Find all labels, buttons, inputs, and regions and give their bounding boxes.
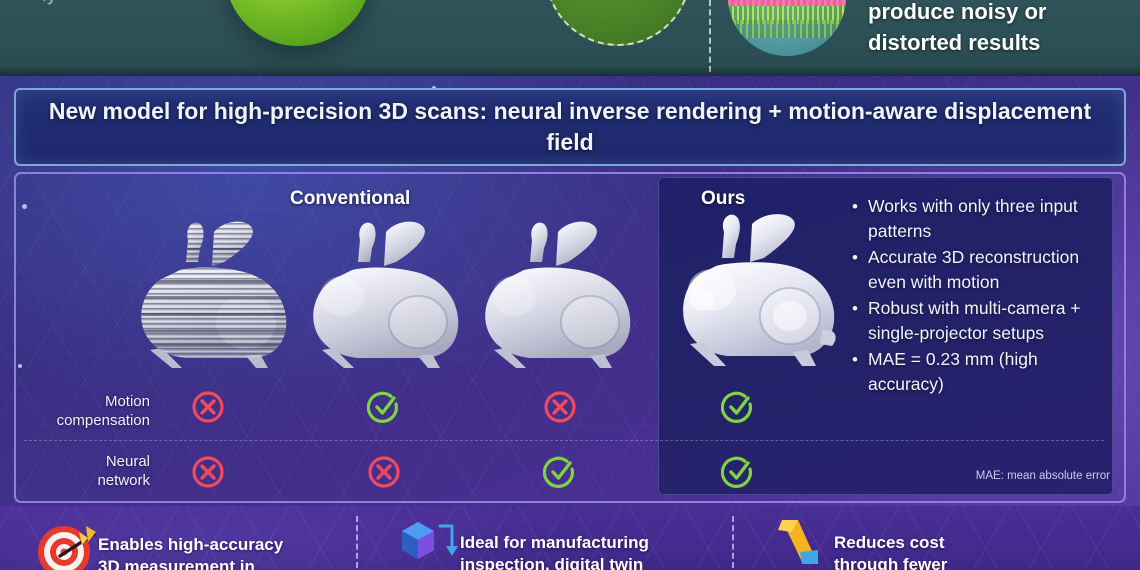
bullet-text: Accurate 3D reconstruction even with mot…: [868, 245, 1110, 295]
row-label-motion-compensation: Motion compensation: [20, 392, 150, 430]
benefit-item-cost: Reduces cost through fewer: [772, 510, 1024, 570]
top-cut-text: ly: [42, 0, 56, 6]
check-icon: [721, 455, 755, 489]
row-label-neural-network: Neural network: [20, 452, 150, 490]
dashed-green-sphere-icon: [545, 0, 691, 46]
headline-text: New model for high-precision 3D scans: n…: [16, 96, 1124, 158]
green-sphere-icon: [225, 0, 371, 46]
vertical-dashed-divider: [709, 0, 711, 72]
bunny-conventional-2: [300, 218, 468, 370]
list-item: • Robust with multi-camera + single-proj…: [852, 296, 1110, 346]
list-item: • Accurate 3D reconstruction even with m…: [852, 245, 1110, 295]
bunny-conventional-1: [128, 218, 296, 370]
row-divider: [24, 440, 1104, 441]
ours-bullet-list: • Works with only three input patterns •…: [852, 194, 1110, 398]
bunny-conventional-3: [472, 218, 640, 370]
bullet-text: Works with only three input patterns: [868, 194, 1110, 244]
cross-icon: [191, 390, 225, 424]
benefit-item-accuracy: Enables high-accuracy 3D measurement in: [36, 512, 308, 570]
benefit-item-manufacturing: Ideal for manufacturing inspection, digi…: [398, 510, 690, 570]
infographic-stage: ly produce noisy or distorted results Ne…: [0, 0, 1140, 570]
bullet-dot-icon: •: [852, 245, 868, 270]
check-icon: [367, 390, 401, 424]
benefit-divider: [732, 516, 734, 568]
bullet-dot-icon: •: [852, 296, 868, 321]
cross-icon: [191, 455, 225, 489]
benefit-text: Enables high-accuracy 3D measurement in: [98, 512, 308, 570]
top-teal-band: ly produce noisy or distorted results: [0, 0, 1140, 76]
headline-banner: New model for high-precision 3D scans: n…: [14, 88, 1126, 166]
bullet-dot-icon: •: [852, 347, 868, 372]
bullet-dot-icon: •: [852, 194, 868, 219]
cross-icon: [543, 390, 577, 424]
benefit-divider: [356, 516, 358, 568]
benefit-text: Ideal for manufacturing inspection, digi…: [460, 510, 690, 570]
benefit-text: Reduces cost through fewer: [834, 510, 1024, 570]
top-band-caption: produce noisy or distorted results: [868, 0, 1138, 58]
mae-footnote: MAE: mean absolute error: [852, 470, 1110, 482]
band-shadow: [0, 66, 1140, 76]
bullet-text: Robust with multi-camera + single-projec…: [868, 296, 1110, 346]
bullet-text: MAE = 0.23 mm (high accuracy): [868, 347, 1110, 397]
cost-down-arrow-icon: [772, 510, 834, 568]
check-icon: [721, 390, 755, 424]
cross-icon: [367, 455, 401, 489]
list-item: • MAE = 0.23 mm (high accuracy): [852, 347, 1110, 397]
bunny-ours: [672, 212, 844, 370]
check-icon: [543, 455, 577, 489]
noisy-sphere-icon: [728, 0, 846, 56]
column-header-conventional: Conventional: [290, 188, 410, 210]
digital-twin-cube-icon: [398, 510, 460, 568]
column-header-ours: Ours: [701, 188, 745, 210]
list-item: • Works with only three input patterns: [852, 194, 1110, 244]
target-dartboard-icon: [36, 512, 98, 570]
